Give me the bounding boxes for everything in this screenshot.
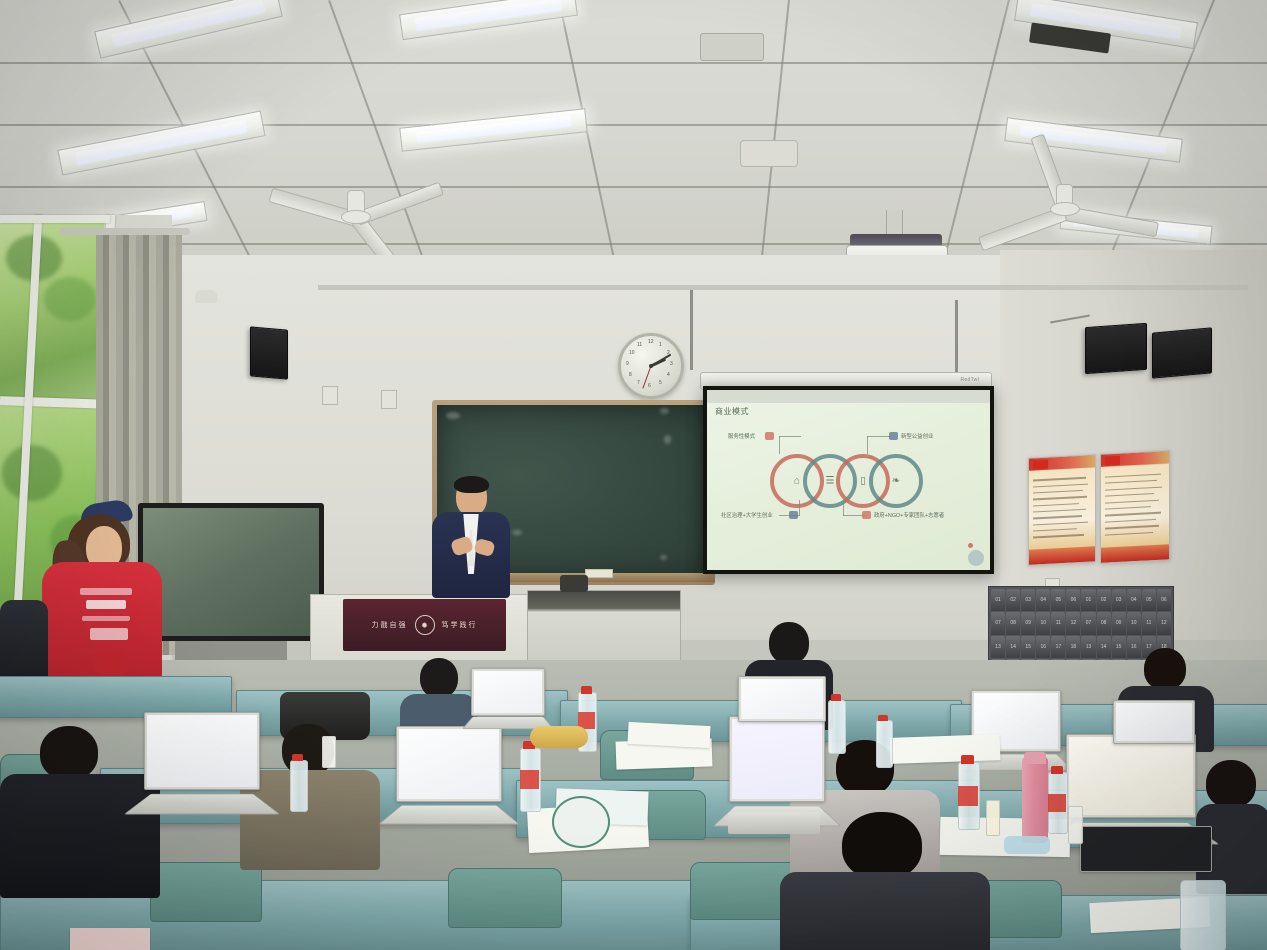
storage-pocket[interactable]: 14 [1006, 636, 1020, 658]
paper-stack [70, 928, 150, 950]
paper-stack [627, 722, 710, 748]
storage-pocket[interactable]: 13 [1081, 636, 1095, 658]
ceiling-grid-line [0, 62, 1267, 64]
wall-speaker [1152, 327, 1212, 378]
slide-label-top-left: 服务性模式 [728, 433, 755, 441]
hand-sanitizer[interactable] [986, 800, 1000, 836]
wall-outlet[interactable] [381, 390, 397, 409]
ceiling-vent [700, 33, 764, 61]
clock-numeral: 11 [637, 342, 642, 348]
slide-label-bottom-left: 社区治理+大学生创业 [721, 512, 773, 520]
clock-numeral: 2 [667, 350, 670, 356]
podium-motto-left: 力戬自强 [372, 620, 408, 630]
presentation-slide: 商业模式 ⌂ ☰ ▯ ❧ [707, 390, 990, 570]
desk-item-bowl [530, 726, 588, 748]
smoke-detector [740, 140, 798, 167]
water-bottle-large[interactable] [1180, 880, 1226, 950]
slide-top-band [707, 390, 990, 403]
paper-stack [890, 734, 1001, 764]
wall-outlet[interactable] [322, 386, 338, 405]
tag-box-top-left [765, 432, 774, 440]
tag-box-top-right [889, 432, 898, 440]
storage-pocket[interactable]: 08 [1006, 612, 1020, 634]
bottle-cap [961, 755, 974, 764]
diagram-ring-4: ❧ [869, 454, 923, 508]
storage-pocket[interactable]: 04 [1036, 589, 1050, 611]
clock-numeral: 6 [648, 383, 651, 389]
storage-pocket[interactable]: 12 [1066, 612, 1080, 634]
wall-poster [1100, 450, 1170, 564]
storage-pocket[interactable]: 12 [1157, 612, 1171, 634]
slide-label-bottom-right: 政府+NGO+专家团队+志愿者 [874, 512, 944, 520]
storage-pocket[interactable]: 16 [1036, 636, 1050, 658]
laptop[interactable] [468, 668, 546, 730]
face-mask [1004, 836, 1050, 854]
laptop[interactable] [140, 712, 262, 816]
keyboard[interactable] [728, 812, 820, 834]
water-bottle[interactable] [876, 720, 893, 768]
water-bottle[interactable] [290, 760, 308, 812]
connector-line [867, 436, 891, 437]
storage-pocket[interactable]: 11 [1142, 612, 1156, 634]
clock-numeral: 7 [637, 380, 640, 386]
leaf-icon: ❧ [892, 476, 900, 487]
bottle-label [520, 770, 539, 789]
storage-pocket[interactable]: 15 [1021, 636, 1035, 658]
storage-pocket[interactable]: 08 [1097, 612, 1111, 634]
tag-box-bottom-right [862, 511, 871, 519]
chair[interactable] [150, 862, 262, 922]
wall-conduit [690, 290, 693, 370]
home-icon: ⌂ [794, 476, 800, 487]
security-camera-icon [195, 290, 217, 303]
ceiling-fan [295, 172, 495, 262]
storage-pocket[interactable]: 10 [1127, 612, 1141, 634]
woman-in-red-hoodie [42, 500, 164, 682]
slide-accent-orb [968, 550, 984, 566]
bottle-cap [831, 694, 841, 701]
laptop[interactable] [1110, 700, 1196, 746]
storage-pocket[interactable]: 13 [991, 636, 1005, 658]
ceiling-fan [990, 168, 1205, 253]
microphone[interactable] [560, 575, 588, 592]
clock-numeral: 3 [670, 361, 673, 367]
podium-motto-right: 笃学践行 [442, 620, 478, 630]
storage-pocket[interactable]: 11 [1051, 612, 1065, 634]
bottle-cap [878, 715, 888, 721]
storage-pocket[interactable]: 05 [1142, 589, 1156, 611]
slide-label-top-right: 新型公益创业 [901, 433, 933, 441]
bottle-cap [292, 754, 303, 761]
storage-pocket[interactable]: 17 [1051, 636, 1065, 658]
storage-pocket[interactable]: 09 [1021, 612, 1035, 634]
storage-pocket[interactable]: 06 [1066, 589, 1080, 611]
laptop[interactable] [1080, 826, 1210, 874]
thermos-cap [1024, 752, 1046, 764]
bottle-label [1048, 794, 1066, 812]
storage-pocket[interactable]: 02 [1006, 589, 1020, 611]
storage-pocket[interactable]: 03 [1021, 589, 1035, 611]
screen-brand-label: RedTwl [961, 377, 979, 383]
wall-speaker [250, 326, 288, 379]
storage-pocket[interactable]: 03 [1112, 589, 1126, 611]
pink-thermos[interactable] [1022, 757, 1048, 843]
hand-sanitizer[interactable] [1068, 806, 1083, 844]
storage-pocket[interactable]: 09 [1112, 612, 1126, 634]
round-logo-item [552, 796, 610, 848]
wall-clock: 121234567891011 [618, 333, 684, 399]
university-emblem-icon: ✹ [415, 615, 435, 635]
connector-line [843, 500, 844, 516]
bottle-cap [581, 686, 592, 694]
connector-line [799, 500, 800, 516]
laptop[interactable] [392, 726, 504, 826]
projection-screen: 商业模式 ⌂ ☰ ▯ ❧ [703, 386, 994, 574]
laptop[interactable] [735, 676, 827, 724]
wall-trim [318, 285, 1248, 290]
clock-numeral: 8 [629, 372, 632, 378]
storage-pocket[interactable]: 06 [1157, 589, 1171, 611]
clock-numeral: 1 [659, 342, 662, 348]
storage-pocket[interactable]: 01 [1081, 589, 1095, 611]
connector-line [867, 436, 868, 454]
equals-icon: ☰ [826, 476, 835, 487]
curtain-rod [60, 228, 190, 235]
storage-pocket[interactable]: 14 [1097, 636, 1111, 658]
clock-numeral: 4 [667, 372, 670, 378]
person-dark-left [0, 600, 48, 686]
clock-numeral: 9 [626, 361, 629, 367]
storage-pocket[interactable]: 07 [991, 612, 1005, 634]
bottle-label [958, 786, 978, 806]
storage-pocket[interactable]: 05 [1051, 589, 1065, 611]
storage-pocket[interactable]: 04 [1127, 589, 1141, 611]
storage-pocket[interactable]: 02 [1097, 589, 1111, 611]
wall-display [138, 503, 324, 641]
storage-pocket[interactable]: 10 [1036, 612, 1050, 634]
storage-pocket[interactable]: 07 [1081, 612, 1095, 634]
hand-sanitizer[interactable] [322, 736, 336, 768]
classroom-presentation-photo: 121234567891011 RedTwl 商业模式 [0, 0, 1267, 950]
connector-line [779, 436, 780, 454]
clock-numeral: 12 [648, 339, 654, 345]
clock-numeral: 10 [629, 350, 635, 356]
storage-pocket[interactable]: 18 [1066, 636, 1080, 658]
connector-line [779, 436, 801, 437]
tag-box-bottom-left [789, 511, 798, 519]
wall-poster [1028, 454, 1096, 566]
blackboard-eraser[interactable] [585, 569, 613, 578]
presenter [428, 478, 514, 598]
document-icon: ▯ [860, 476, 866, 487]
storage-pocket[interactable]: 01 [991, 589, 1005, 611]
water-bottle[interactable] [828, 700, 846, 754]
slide-title: 商业模式 [715, 406, 749, 417]
chair[interactable] [448, 868, 562, 928]
wall-speaker [1085, 323, 1147, 374]
clock-numeral: 5 [659, 380, 662, 386]
bottle-cap [1051, 766, 1063, 774]
podium-motto-panel: 力戬自强 ✹ 笃学践行 [343, 599, 506, 651]
slide-accent-dot [968, 543, 973, 548]
